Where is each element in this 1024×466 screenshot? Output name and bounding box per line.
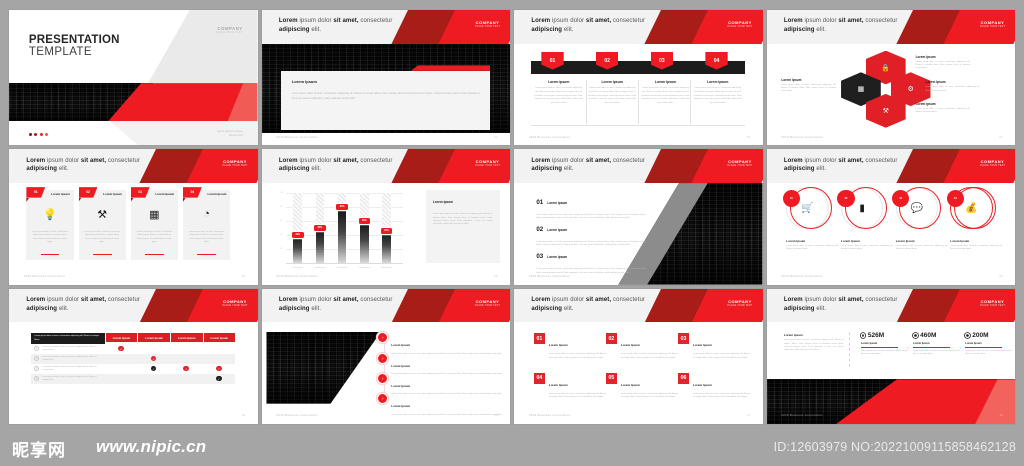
table-header-row: Lorem ipsum dolor sit amet, consectetur … — [31, 333, 235, 343]
header-company-sub: PLACE YOUR TEXT — [980, 164, 1005, 167]
table-corner-cell: Lorem ipsum dolor sit amet, consectetur … — [31, 333, 104, 343]
slide-9-header: Lorem ipsum dolor sit amet, consectetur … — [9, 289, 258, 323]
image-id-text: ID:12603979 NO:20221009115858462128 — [774, 440, 1016, 454]
slide-10-header: Lorem ipsum dolor sit amet, consectetur … — [262, 289, 511, 323]
cover-dot-row — [29, 133, 49, 136]
site-url: www.nipic.cn — [96, 437, 206, 457]
card-body-text: Lorem ipsum dolor sit amet, consectetur … — [292, 92, 480, 101]
arrow-label-3: Lorem Ipsum — [391, 384, 410, 388]
chart-y-tick: 20 — [281, 248, 283, 250]
slide-11-title: Lorem ipsum dolor sit amet, consectetur … — [531, 296, 680, 313]
stat-plus-1: + — [907, 345, 909, 350]
slide-6-bar-chart[interactable]: Lorem ipsum dolor sit amet, consectetur … — [262, 149, 511, 284]
stat-value-2: 460M — [920, 332, 936, 339]
monitor-icon: ▦ — [131, 208, 178, 221]
hex-caption-label-4: Lorem Ipsum — [916, 102, 971, 106]
comparison-table: Lorem ipsum dolor sit amet, consectetur … — [31, 333, 235, 383]
chart-bar-ghost — [360, 193, 369, 221]
bullet-icon — [913, 333, 918, 338]
header-company-sub: PLACE YOUR TEXT — [727, 25, 752, 28]
numbered-item-2: 02 Lorem Ipsum Lorem ipsum dolor sit ame… — [606, 333, 678, 360]
header-company-sub: PLACE YOUR TEXT — [475, 164, 500, 167]
check-icon: ✓ — [151, 356, 157, 362]
check-icon: ✓ — [183, 366, 189, 372]
chart-y-tick: 60 — [281, 220, 283, 222]
card-underline-2 — [93, 254, 112, 255]
circle-body-4: Lorem ipsum dolor sit amet, consectetur … — [950, 245, 1002, 252]
cover-dot-3 — [40, 133, 43, 136]
chart-bar[interactable]: 80%Lorem Ipsum — [338, 193, 347, 263]
chart-x-tick: Lorem Ipsum — [289, 267, 307, 269]
table-cell-1-1: ✓ — [105, 344, 138, 354]
slide-10-title: Lorem ipsum dolor sit amet, consectetur … — [279, 296, 428, 313]
slide-6-title: Lorem ipsum dolor sit amet, consectetur … — [279, 157, 428, 174]
table-col-header-3: Lorem Ipsum — [170, 333, 203, 342]
stat-body-3: Lorem ipsum dolor sit amet, consectetur … — [965, 350, 1012, 356]
slide-6-page-number: 06 — [494, 274, 497, 278]
slide-2-content-card: Lorem Ipsum Lorem ipsum dolor sit amet, … — [281, 71, 490, 131]
stat-plus-2: + — [959, 345, 961, 350]
header-company: COMPANY PLACE YOUR TEXT — [475, 20, 500, 28]
slide-8-page-number: 08 — [999, 274, 1002, 278]
card-underline-4 — [197, 254, 216, 255]
chart-bar-ghost — [316, 193, 325, 228]
stats-divider — [849, 332, 850, 367]
header-company: COMPANY PLACE YOUR TEXT — [727, 299, 752, 307]
numbered-item-1: 01 Lorem Ipsum Lorem ipsum dolor sit ame… — [534, 333, 606, 360]
card-underline-1 — [41, 254, 60, 255]
step-label-1: Lorem Ipsum — [534, 80, 584, 84]
stat-body-2: Lorem ipsum dolor sit amet, consectetur … — [913, 350, 960, 356]
circle-body-1: Lorem ipsum dolor sit amet, consectetur … — [786, 245, 838, 252]
slide-2-header: Lorem ipsum dolor sit amet, consectetur … — [262, 10, 511, 44]
card-body-1: Lorem ipsum dolor sit amet, consectetur … — [31, 231, 69, 245]
slide-2-title: Lorem ipsum dolor sit amet, consectetur … — [279, 17, 428, 34]
stat-rule-2 — [913, 347, 950, 348]
row-text-3: Lorem ipsum dolor sit amet, consectetur … — [42, 366, 101, 372]
card-body-2: Lorem ipsum dolor sit amet, consectetur … — [83, 231, 121, 245]
cover-dot-1 — [29, 133, 32, 136]
chart-y-tick: 40 — [281, 234, 283, 236]
stat-value-3: 200M — [972, 332, 988, 339]
arrow-row-4: › Lorem Ipsum Lorem ipsum dolor sit amet… — [378, 394, 502, 417]
stat-value-1: 526M — [868, 332, 884, 339]
slide-10-page-number: 10 — [494, 413, 497, 417]
chart-y-tick: 100 — [281, 192, 284, 194]
item-label-6: Lorem Ipsum — [693, 383, 712, 387]
slide-3-four-steps[interactable]: Lorem ipsum dolor sit amet, consectetur … — [514, 10, 763, 145]
row-body-2: Lorem ipsum dolor sit amet, consectetur … — [536, 241, 645, 248]
card-ribbon-tail-2 — [79, 198, 82, 202]
card-ribbon-tail-4 — [183, 198, 186, 202]
slide-8-circle-icons[interactable]: Lorem ipsum dolor sit amet, consectetur … — [767, 149, 1016, 284]
header-company-sub: PLACE YOUR TEXT — [980, 304, 1005, 307]
table-cell-2-3 — [170, 354, 203, 364]
slide-11-footer: 2019 Business Corporation — [529, 413, 570, 417]
header-company: COMPANY PLACE YOUR TEXT — [980, 159, 1005, 167]
circle-label-3: Lorem Ipsum — [896, 239, 948, 243]
step-column-3: Lorem Ipsum Lorem ipsum dolor sit amet, … — [641, 80, 691, 105]
row-label-2: Lorem Ipsum — [547, 228, 567, 232]
lightbulb-icon: 💡 — [26, 208, 73, 221]
chart-bar-ghost — [293, 193, 302, 235]
hex-caption-left: Lorem Ipsum Lorem ipsum dolor sit amet, … — [781, 78, 836, 94]
card-ribbon-tail-1 — [26, 198, 29, 202]
slide-5-footer: 2019 Business Corporation — [24, 274, 65, 278]
numbered-row-3: 03Lorem Ipsum Lorem ipsum dolor sit amet… — [536, 248, 645, 275]
item-label-1: Lorem Ipsum — [549, 343, 568, 347]
slide-12-header: Lorem ipsum dolor sit amet, consectetur … — [767, 289, 1016, 323]
hex-caption-right-1: Lorem Ipsum Lorem ipsum dolor sit amet, … — [916, 55, 971, 71]
slide-5-title: Lorem ipsum dolor sit amet, consectetur … — [26, 157, 175, 174]
numbered-item-6: 06 Lorem Ipsum Lorem ipsum dolor sit ame… — [678, 373, 750, 400]
table-cell-2-1 — [105, 354, 138, 364]
arrow-right-icon: › — [378, 394, 387, 403]
header-company: COMPANY PLACE YOUR TEXT — [475, 299, 500, 307]
row-label-1: Lorem Ipsum — [547, 201, 567, 205]
item-label-3: Lorem Ipsum — [693, 343, 712, 347]
cover-title-line1: PRESENTATION — [29, 34, 120, 46]
item-number-6: 06 — [678, 373, 689, 384]
circle-body-3: Lorem ipsum dolor sit amet, consectetur … — [896, 245, 948, 252]
step-body-3: Lorem ipsum dolor sit amet, consectetur … — [641, 87, 691, 105]
chart-bar-fill — [316, 228, 325, 263]
card-body-4: Lorem ipsum dolor sit amet, consectetur … — [188, 231, 226, 245]
slide-3-header: Lorem ipsum dolor sit amet, consectetur … — [514, 10, 763, 44]
slide-12-statistics[interactable]: Lorem ipsum dolor sit amet, consectetur … — [767, 289, 1016, 424]
numbered-item-5: 05 Lorem Ipsum Lorem ipsum dolor sit ame… — [606, 373, 678, 400]
hex-caption-body-1: Lorem ipsum dolor sit amet, consectetur … — [781, 84, 836, 94]
table-cell-1-4 — [203, 344, 236, 354]
header-company-sub: PLACE YOUR TEXT — [727, 164, 752, 167]
stat-block-1: 526M Lorem Ipsum Lorem ipsum dolor sit a… — [861, 332, 908, 356]
stat-block-3: 200M Lorem Ipsum Lorem ipsum dolor sit a… — [965, 332, 1012, 356]
stat-label-3: Lorem Ipsum — [965, 342, 1012, 345]
row-number-3: 03 — [536, 253, 543, 260]
header-company: COMPANY PLACE YOUR TEXT — [980, 20, 1005, 28]
hex-caption-right-3: Lorem Ipsum Lorem ipsum dolor sit amet, … — [916, 102, 971, 115]
slide-4-hexagons[interactable]: Lorem ipsum dolor sit amet, consectetur … — [767, 10, 1016, 145]
slide-10-footer: 2019 Business Corporation — [276, 413, 317, 417]
table-row-head-2: 2 Lorem ipsum dolor sit amet, consectetu… — [31, 354, 104, 364]
site-logo: 昵享网 — [12, 436, 66, 461]
chart-x-tick: Lorem Ipsum — [333, 267, 351, 269]
header-company: COMPANY PLACE YOUR TEXT — [980, 299, 1005, 307]
arrow-label-4: Lorem Ipsum — [391, 404, 410, 408]
table-row-head-4: 4 Lorem ipsum dolor sit amet, consectetu… — [31, 374, 104, 384]
slide-5-icon-cards[interactable]: Lorem ipsum dolor sit amet, consectetur … — [9, 149, 258, 284]
tools-icon: ⚒ — [79, 208, 126, 221]
header-company-sub: PLACE YOUR TEXT — [222, 164, 247, 167]
watermark-bar: 昵享网 www.nipic.cn ID:12603979 NO:20221009… — [0, 430, 1024, 466]
card-underline-3 — [145, 254, 164, 255]
item-body-6: Lorem ipsum dolor sit amet, consectetur … — [693, 393, 750, 400]
numbered-item-3: 03 Lorem Ipsum Lorem ipsum dolor sit ame… — [678, 333, 750, 360]
chart-axis-line — [286, 263, 403, 264]
card-ribbon-3: 03 — [131, 187, 150, 198]
slide-3-title: Lorem ipsum dolor sit amet, consectetur … — [531, 17, 680, 34]
hex-caption-label-3: Lorem Ipsum — [926, 80, 981, 84]
circle-caption-2: Lorem Ipsum Lorem ipsum dolor sit amet, … — [841, 239, 893, 252]
slide-4-header: Lorem ipsum dolor sit amet, consectetur … — [767, 10, 1016, 44]
slide-11-header: Lorem ipsum dolor sit amet, consectetur … — [514, 289, 763, 323]
row-number-badge-1: 1 — [34, 346, 39, 351]
check-icon: ✓ — [216, 376, 222, 382]
table-cell-4-1 — [105, 374, 138, 384]
slide-4-page-number: 04 — [999, 135, 1002, 139]
item-number-3: 03 — [678, 333, 689, 344]
table-row-head-1: 1 Lorem ipsum dolor sit amet, consectetu… — [31, 344, 104, 354]
circle-badge-2: 02 — [837, 190, 854, 207]
hex-caption-label-1: Lorem Ipsum — [781, 78, 836, 82]
header-company: COMPANY PLACE YOUR TEXT — [727, 20, 752, 28]
slide-2-footer: 2019 Business Corporation — [276, 135, 317, 139]
chart-bar[interactable]: 40%Lorem Ipsum — [293, 193, 302, 263]
item-body-5: Lorem ipsum dolor sit amet, consectetur … — [621, 393, 678, 400]
stats-intro: Lorem Ipsum Lorem ipsum dolor sit amet, … — [784, 333, 844, 353]
icon-card-3[interactable]: 03 Lorem Ipsum ▦ Lorem ipsum dolor sit a… — [131, 190, 178, 260]
step-separator-2 — [638, 80, 639, 123]
stat-rule-3 — [965, 347, 1002, 348]
arrow-right-icon: › — [378, 354, 387, 363]
step-column-4: Lorem Ipsum Lorem ipsum dolor sit amet, … — [693, 80, 743, 105]
cover-company: COMPANY PLACE YOUR TEXT — [216, 26, 243, 34]
chart-bar[interactable]: 50%Lorem Ipsum — [316, 193, 325, 263]
cover-dot-4 — [45, 133, 48, 136]
card-title-4: Lorem Ipsum — [208, 192, 227, 196]
circle-label-2: Lorem Ipsum — [841, 239, 893, 243]
row-text-4: Lorem ipsum dolor sit amet, consectetur … — [42, 376, 101, 382]
slide-1-cover[interactable]: PRESENTATION TEMPLATE COMPANY PLACE YOUR… — [9, 10, 258, 145]
header-company-sub: PLACE YOUR TEXT — [475, 304, 500, 307]
circle-caption-3: Lorem Ipsum Lorem ipsum dolor sit amet, … — [896, 239, 948, 252]
arrow-right-icon: › — [378, 374, 387, 383]
tools-icon: ⚒ — [866, 94, 906, 128]
check-icon: ✓ — [216, 366, 222, 372]
slide-8-header: Lorem ipsum dolor sit amet, consectetur … — [767, 149, 1016, 183]
item-label-4: Lorem Ipsum — [549, 383, 568, 387]
circle-label-1: Lorem Ipsum — [786, 239, 838, 243]
slide-7-title: Lorem ipsum dolor sit amet, consectetur … — [531, 157, 680, 174]
arrow-label-1: Lorem Ipsum — [391, 343, 410, 347]
card-title-3: Lorem Ipsum — [155, 192, 174, 196]
slide-11-six-items[interactable]: Lorem ipsum dolor sit amet, consectetur … — [514, 289, 763, 424]
chart-value-label: 80% — [336, 204, 348, 210]
item-label-5: Lorem Ipsum — [621, 383, 640, 387]
step-body-4: Lorem ipsum dolor sit amet, consectetur … — [693, 87, 743, 105]
stat-body-1: Lorem ipsum dolor sit amet, consectetur … — [861, 350, 908, 356]
pie-chart-icon: ◔ — [183, 208, 230, 220]
row-body-1: Lorem ipsum dolor sit amet, consectetur … — [536, 214, 645, 221]
table-cell-4-3 — [170, 374, 203, 384]
cover-tagline: Lorem Ipsum is simply dummy text — [217, 130, 243, 138]
bullet-icon — [861, 333, 866, 338]
chart-value-label: 45% — [381, 228, 393, 234]
chart-y-tick: 80 — [281, 206, 283, 208]
item-number-1: 01 — [534, 333, 545, 344]
cover-company-sub: PLACE YOUR TEXT — [216, 31, 243, 34]
check-icon: ✓ — [151, 366, 157, 372]
table-cell-2-4 — [203, 354, 236, 364]
bar-chart-plot: 1008060402040%Lorem Ipsum50%Lorem Ipsum8… — [286, 193, 403, 263]
chart-panel-body: Lorem ipsum dolor sit amet, consectetur … — [433, 213, 493, 227]
slide-5-page-number: 05 — [242, 274, 245, 278]
stat-value-row-2: 460M — [913, 332, 960, 339]
step-column-2: Lorem Ipsum Lorem ipsum dolor sit amet, … — [587, 80, 637, 105]
arrow-right-icon: › — [378, 333, 387, 342]
item-body-3: Lorem ipsum dolor sit amet, consectetur … — [693, 353, 750, 360]
table-cell-1-2 — [137, 344, 170, 354]
table-cell-3-4: ✓ — [203, 364, 236, 374]
stat-rule-1 — [861, 347, 898, 348]
hex-caption-right-2: Lorem Ipsum Lorem ipsum dolor sit amet, … — [926, 80, 981, 93]
slide-7-footer: 2019 Business Corporation — [529, 274, 570, 278]
slide-6-header: Lorem ipsum dolor sit amet, consectetur … — [262, 149, 511, 183]
item-body-4: Lorem ipsum dolor sit amet, consectetur … — [549, 393, 606, 400]
cover-dot-2 — [34, 133, 37, 136]
row-text-1: Lorem ipsum dolor sit amet, consectetur … — [42, 346, 101, 352]
check-icon: ✓ — [118, 346, 124, 352]
item-number-2: 02 — [606, 333, 617, 344]
chart-x-tick: Lorem Ipsum — [378, 267, 396, 269]
stat-value-row-3: 200M — [965, 332, 1012, 339]
slide-10-photo-arrow-list[interactable]: Lorem ipsum dolor sit amet, consectetur … — [262, 289, 511, 424]
chart-side-panel: Lorem Ipsum Lorem ipsum dolor sit amet, … — [426, 190, 501, 263]
circle-caption-1: Lorem Ipsum Lorem ipsum dolor sit amet, … — [786, 239, 838, 252]
chart-bar-ghost — [382, 193, 391, 232]
chart-bar[interactable]: 45%Lorem Ipsum — [382, 193, 391, 263]
slide-5-header: Lorem ipsum dolor sit amet, consectetur … — [9, 149, 258, 183]
slide-7-numbered-rows[interactable]: Lorem ipsum dolor sit amet, consectetur … — [514, 149, 763, 284]
slide-12-title: Lorem ipsum dolor sit amet, consectetur … — [784, 296, 933, 313]
steps-bottom-rule — [531, 125, 745, 126]
slide-12-footer: 2019 Business Corporation — [781, 413, 822, 417]
item-label-2: Lorem Ipsum — [621, 343, 640, 347]
numbered-row-1: 01Lorem Ipsum Lorem ipsum dolor sit amet… — [536, 194, 645, 221]
slide-9-comparison-table[interactable]: Lorem ipsum dolor sit amet, consectetur … — [9, 289, 258, 424]
slide-grid: PRESENTATION TEMPLATE COMPANY PLACE YOUR… — [0, 0, 1024, 430]
slide-6-footer: 2019 Business Corporation — [276, 274, 317, 278]
table-col-header-4: Lorem Ipsum — [203, 333, 236, 342]
circle-label-4: Lorem Ipsum — [950, 239, 1002, 243]
header-company-sub: PLACE YOUR TEXT — [980, 25, 1005, 28]
icon-card-1[interactable]: 01 Lorem Ipsum 💡 Lorem ipsum dolor sit a… — [26, 190, 73, 260]
stats-intro-label: Lorem Ipsum — [784, 333, 844, 337]
row-label-3: Lorem Ipsum — [547, 255, 567, 259]
stat-value-row-1: 526M — [861, 332, 908, 339]
chart-bar-fill — [293, 235, 302, 263]
icon-card-2[interactable]: 02 Lorem Ipsum ⚒ Lorem ipsum dolor sit a… — [79, 190, 126, 260]
cover-tagline-line2: dummy text — [217, 134, 243, 138]
slide-3-page-number: 03 — [747, 135, 750, 139]
header-company: COMPANY PLACE YOUR TEXT — [222, 159, 247, 167]
circle-body-2: Lorem ipsum dolor sit amet, consectetur … — [841, 245, 893, 252]
slide-8-footer: 2019 Business Corporation — [781, 274, 822, 278]
chart-x-tick: Lorem Ipsum — [311, 267, 329, 269]
stat-label-1: Lorem Ipsum — [861, 342, 908, 345]
card-body-3: Lorem ipsum dolor sit amet, consectetur … — [135, 231, 173, 245]
chart-value-label: 50% — [314, 225, 326, 231]
icon-card-4[interactable]: 04 Lorem Ipsum ◔ Lorem ipsum dolor sit a… — [183, 190, 230, 260]
stat-label-2: Lorem Ipsum — [913, 342, 960, 345]
hex-tools[interactable]: ⚒ — [866, 94, 906, 128]
header-company-sub: PLACE YOUR TEXT — [222, 304, 247, 307]
table-cell-3-2: ✓ — [137, 364, 170, 374]
step-label-3: Lorem Ipsum — [641, 80, 691, 84]
chart-bar-fill — [382, 231, 391, 263]
row-text-2: Lorem ipsum dolor sit amet, consectetur … — [42, 356, 101, 362]
slide-11-page-number: 11 — [747, 413, 750, 417]
step-column-1: Lorem Ipsum Lorem ipsum dolor sit amet, … — [534, 80, 584, 105]
row-number-2: 02 — [536, 226, 543, 233]
chart-value-label: 60% — [359, 218, 371, 224]
chart-bar-fill — [360, 221, 369, 263]
slide-3-footer: 2019 Business Corporation — [529, 135, 570, 139]
chart-panel-label: Lorem Ipsum — [433, 200, 453, 204]
slide-10-city-photo — [266, 332, 380, 404]
table-row-head-3: 3 Lorem ipsum dolor sit amet, consectetu… — [31, 364, 104, 374]
slide-7-header: Lorem ipsum dolor sit amet, consectetur … — [514, 149, 763, 183]
slide-2-text-over-photo[interactable]: Lorem ipsum dolor sit amet, consectetur … — [262, 10, 511, 145]
slide-12-page-number: 12 — [999, 413, 1002, 417]
chart-x-tick: Lorem Ipsum — [356, 267, 374, 269]
row-number-badge-4: 4 — [34, 376, 39, 381]
row-number-1: 01 — [536, 199, 543, 206]
header-company: COMPANY PLACE YOUR TEXT — [475, 159, 500, 167]
table-row: 3 Lorem ipsum dolor sit amet, consectetu… — [31, 364, 235, 374]
card-ribbon-2: 02 — [79, 187, 98, 198]
header-company-sub: PLACE YOUR TEXT — [727, 304, 752, 307]
hex-caption-label-2: Lorem Ipsum — [916, 55, 971, 59]
header-company: COMPANY PLACE YOUR TEXT — [727, 159, 752, 167]
card-ribbon-1: 01 — [26, 187, 45, 198]
cover-title-line2: TEMPLATE — [29, 46, 120, 58]
table-col-header-2: Lorem Ipsum — [137, 333, 170, 342]
table-col-header-1: Lorem Ipsum — [105, 333, 138, 342]
bullet-icon — [965, 333, 970, 338]
table-cell-4-4: ✓ — [203, 374, 236, 384]
stat-block-2: 460M Lorem Ipsum Lorem ipsum dolor sit a… — [913, 332, 960, 356]
table-cell-1-3 — [170, 344, 203, 354]
card-ribbon-4: 04 — [183, 187, 202, 198]
slide-8-title: Lorem ipsum dolor sit amet, consectetur … — [784, 157, 933, 174]
step-body-1: Lorem ipsum dolor sit amet, consectetur … — [534, 87, 584, 105]
row-number-badge-2: 2 — [34, 356, 39, 361]
table-cell-3-3: ✓ — [170, 364, 203, 374]
table-row: 4 Lorem ipsum dolor sit amet, consectetu… — [31, 374, 235, 384]
table-cell-4-2 — [137, 374, 170, 384]
card-ribbon-tail-3 — [131, 198, 134, 202]
table-row: 1 Lorem ipsum dolor sit amet, consectetu… — [31, 344, 235, 354]
slide-9-page-number: 09 — [242, 413, 245, 417]
header-company: COMPANY PLACE YOUR TEXT — [222, 299, 247, 307]
cover-title: PRESENTATION TEMPLATE — [29, 34, 120, 58]
arrow-body-4: Lorem ipsum dolor sit amet, consectetur … — [391, 414, 502, 417]
slide-9-title: Lorem ipsum dolor sit amet, consectetur … — [26, 296, 175, 313]
numbered-item-4: 04 Lorem Ipsum Lorem ipsum dolor sit ame… — [534, 373, 606, 400]
row-number-badge-3: 3 — [34, 366, 39, 371]
item-number-4: 04 — [534, 373, 545, 384]
slide-4-title: Lorem ipsum dolor sit amet, consectetur … — [784, 17, 933, 34]
chart-bar[interactable]: 60%Lorem Ipsum — [360, 193, 369, 263]
chart-value-label: 40% — [292, 232, 304, 238]
numbered-row-2: 02Lorem Ipsum Lorem ipsum dolor sit amet… — [536, 221, 645, 248]
card-label: Lorem Ipsum — [292, 79, 317, 84]
card-title-1: Lorem Ipsum — [51, 192, 70, 196]
arrow-label-2: Lorem Ipsum — [391, 364, 410, 368]
header-company-sub: PLACE YOUR TEXT — [475, 25, 500, 28]
slide-2-page-number: 02 — [494, 135, 497, 139]
